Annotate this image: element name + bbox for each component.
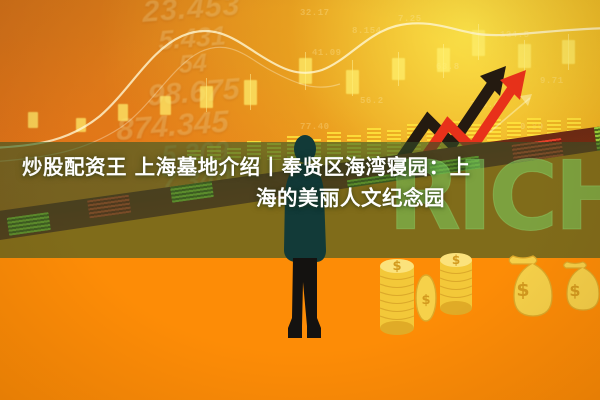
money-bag-large-icon: $ bbox=[509, 256, 552, 316]
money-bag-small-icon: $ bbox=[564, 262, 599, 310]
svg-text:$: $ bbox=[392, 259, 401, 274]
headline-line-1: 炒股配资王 上海墓地介绍丨奉贤区海湾寝园：上 bbox=[0, 152, 600, 183]
coin-stack-short-icon: $ bbox=[440, 253, 472, 315]
svg-text:$: $ bbox=[452, 253, 460, 267]
banner-image: 23.453 5.431 54 98.675 874.345 5.309 7.3… bbox=[0, 0, 600, 400]
svg-text:$: $ bbox=[569, 281, 580, 300]
money-graphics: $ $ $ $ $ bbox=[368, 246, 600, 366]
headline-text: 炒股配资王 上海墓地介绍丨奉贤区海湾寝园：上 海的美丽人文纪念园 bbox=[0, 152, 600, 214]
coin-stack-tall-icon: $ bbox=[380, 259, 414, 335]
svg-text:$: $ bbox=[516, 279, 529, 301]
single-coin-icon: $ bbox=[416, 275, 436, 321]
headline-line-2: 海的美丽人文纪念园 bbox=[0, 183, 600, 214]
svg-text:$: $ bbox=[421, 293, 430, 308]
